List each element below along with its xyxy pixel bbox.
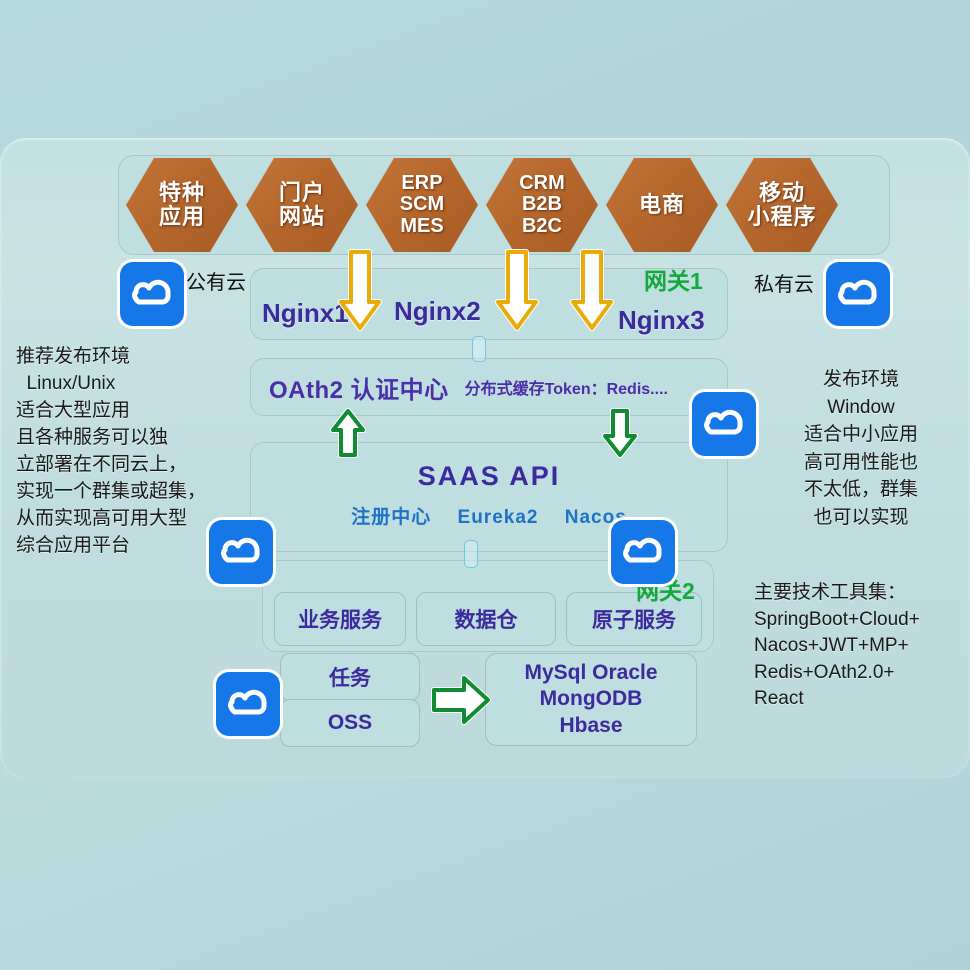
note-line: 主要技术工具集： (754, 580, 970, 607)
oauth2-title: OAth2 认证中心 (269, 370, 449, 405)
nginx3-label: Nginx3 (618, 305, 705, 336)
database-box[interactable]: MySql Oracle MongODB Hbase (485, 653, 697, 746)
cloud-icon-gateway2[interactable] (611, 520, 675, 584)
note-line: Nacos+JWT+MP+ (754, 633, 970, 660)
task-box[interactable]: 任务 (280, 653, 420, 701)
db-line-3: Hbase (559, 713, 622, 739)
cloud-icon-infra[interactable] (216, 672, 280, 736)
registry-eureka2: Eureka2 (458, 507, 539, 528)
registry-label: 注册中心 (351, 507, 431, 528)
tech-stack-note: 主要技术工具集：SpringBoot+Cloud+Nacos+JWT+MP+Re… (754, 580, 970, 713)
oauth2-auth-center-band: OAth2 认证中心 分布式缓存Token：Redis.... (250, 358, 728, 416)
note-line: 也可以实现 (756, 504, 966, 532)
hexagon-label: ERPSCMMES (400, 173, 444, 238)
hexagon-label: CRMB2BB2C (519, 173, 565, 238)
note-line: 适合大型应用 (16, 398, 252, 425)
down-arrow-nginx2 (495, 248, 539, 334)
db-line-2: MongODB (540, 686, 643, 712)
note-line: React (754, 686, 970, 713)
note-line: 实现一个群集或超集， (16, 479, 252, 506)
cloud-icon-saas-left[interactable] (209, 520, 273, 584)
gateway1-label: 网关1 (644, 262, 703, 296)
note-line: 高可用性能也 (756, 449, 966, 477)
note-line: Redis+OAth2.0+ (754, 660, 970, 687)
hexagon-label: 电商 (639, 193, 685, 217)
hexagon-label: 移动小程序 (747, 181, 816, 229)
service-box-datawarehouse[interactable]: 数据仓 (416, 592, 556, 646)
note-line: 发布环境 (756, 366, 966, 394)
down-arrow-auth-to-saas (602, 408, 638, 460)
hexagon-special-application[interactable]: 特种应用 (126, 158, 238, 252)
db-line-1: MySql Oracle (524, 660, 657, 686)
hexagon-mobile-miniprogram[interactable]: 移动小程序 (726, 158, 838, 252)
connector-nginx-to-oauth (472, 336, 486, 362)
hexagon-erp-scm-mes[interactable]: ERPSCMMES (366, 158, 478, 252)
private-cloud-caption: 私有云 (754, 268, 814, 297)
note-line: 且各种服务可以独 (16, 425, 252, 452)
right-arrow-to-database (430, 672, 492, 728)
note-line: 立部署在不同云上， (16, 452, 252, 479)
public-cloud-caption: 公有云 (186, 266, 246, 295)
note-line: SpringBoot+Cloud+ (754, 607, 970, 634)
note-line: Window (756, 394, 966, 422)
cloud-icon-private[interactable] (826, 262, 890, 326)
down-arrow-nginx1 (338, 248, 382, 334)
note-line: Linux/Unix (16, 371, 252, 398)
application-hexagon-row: 特种应用 门户网站 ERPSCMMES CRMB2BB2C 电商 移动小程序 (118, 155, 890, 255)
hexagon-crm-b2b-b2c[interactable]: CRMB2BB2C (486, 158, 598, 252)
note-line: 推荐发布环境 (16, 344, 252, 371)
nginx2-label: Nginx2 (394, 296, 481, 327)
service-box-business[interactable]: 业务服务 (274, 592, 406, 646)
hexagon-portal-website[interactable]: 门户网站 (246, 158, 358, 252)
up-arrow-auth-to-saas (330, 408, 366, 460)
hexagon-ecommerce[interactable]: 电商 (606, 158, 718, 252)
oss-box[interactable]: OSS (280, 699, 420, 747)
nginx1-label: Nginx1 (262, 298, 349, 329)
note-line: 适合中小应用 (756, 421, 966, 449)
hexagon-label: 门户网站 (279, 181, 325, 229)
windows-deploy-note: 发布环境Window适合中小应用高可用性能也不太低，群集也可以实现 (756, 366, 966, 531)
hexagon-label: 特种应用 (159, 181, 205, 229)
down-arrow-nginx3 (570, 248, 614, 334)
saas-api-title: SAAS API (251, 461, 727, 492)
cloud-icon-auth[interactable] (692, 392, 756, 456)
note-line: 不太低，群集 (756, 476, 966, 504)
cloud-icon-public[interactable] (120, 262, 184, 326)
connector-saas-to-services (464, 540, 478, 568)
oauth2-subtitle: 分布式缓存Token：Redis.... (465, 375, 668, 399)
